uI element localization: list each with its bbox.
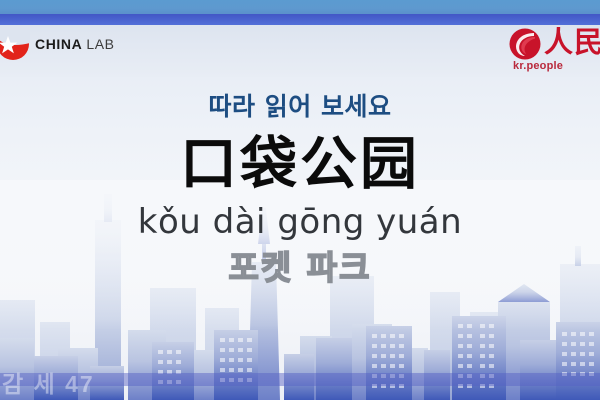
people-daily-logo: 人民 kr.people bbox=[508, 25, 600, 73]
sky-blue-band bbox=[0, 0, 600, 14]
lesson-card: 따라 읽어 보세요 口袋公园 kǒu dài gōng yuán 포켓 파크 bbox=[0, 77, 600, 288]
china-lab-star-emblem-icon bbox=[0, 27, 30, 61]
vocabulary-korean-translation: 포켓 파크 bbox=[0, 248, 600, 288]
brand-name-primary: CHINA bbox=[35, 36, 82, 52]
people-daily-cjk-name: 人民 bbox=[544, 25, 600, 59]
china-lab-logo: CHINALAB bbox=[0, 24, 115, 64]
people-daily-url: kr.people bbox=[513, 60, 563, 72]
people-daily-swirl-icon bbox=[508, 27, 542, 61]
vocabulary-hanzi: 口袋公园 bbox=[0, 134, 600, 196]
instruction-text: 따라 읽어 보세요 bbox=[0, 93, 600, 122]
vocabulary-pinyin: kǒu dài gōng yuán bbox=[0, 203, 600, 242]
video-frame: 감 세 47 CHINALAB 人民 kr.people 따라 읽어 보세요 bbox=[0, 0, 600, 400]
china-lab-wordmark: CHINALAB bbox=[35, 37, 115, 51]
brand-name-secondary: LAB bbox=[86, 36, 114, 52]
